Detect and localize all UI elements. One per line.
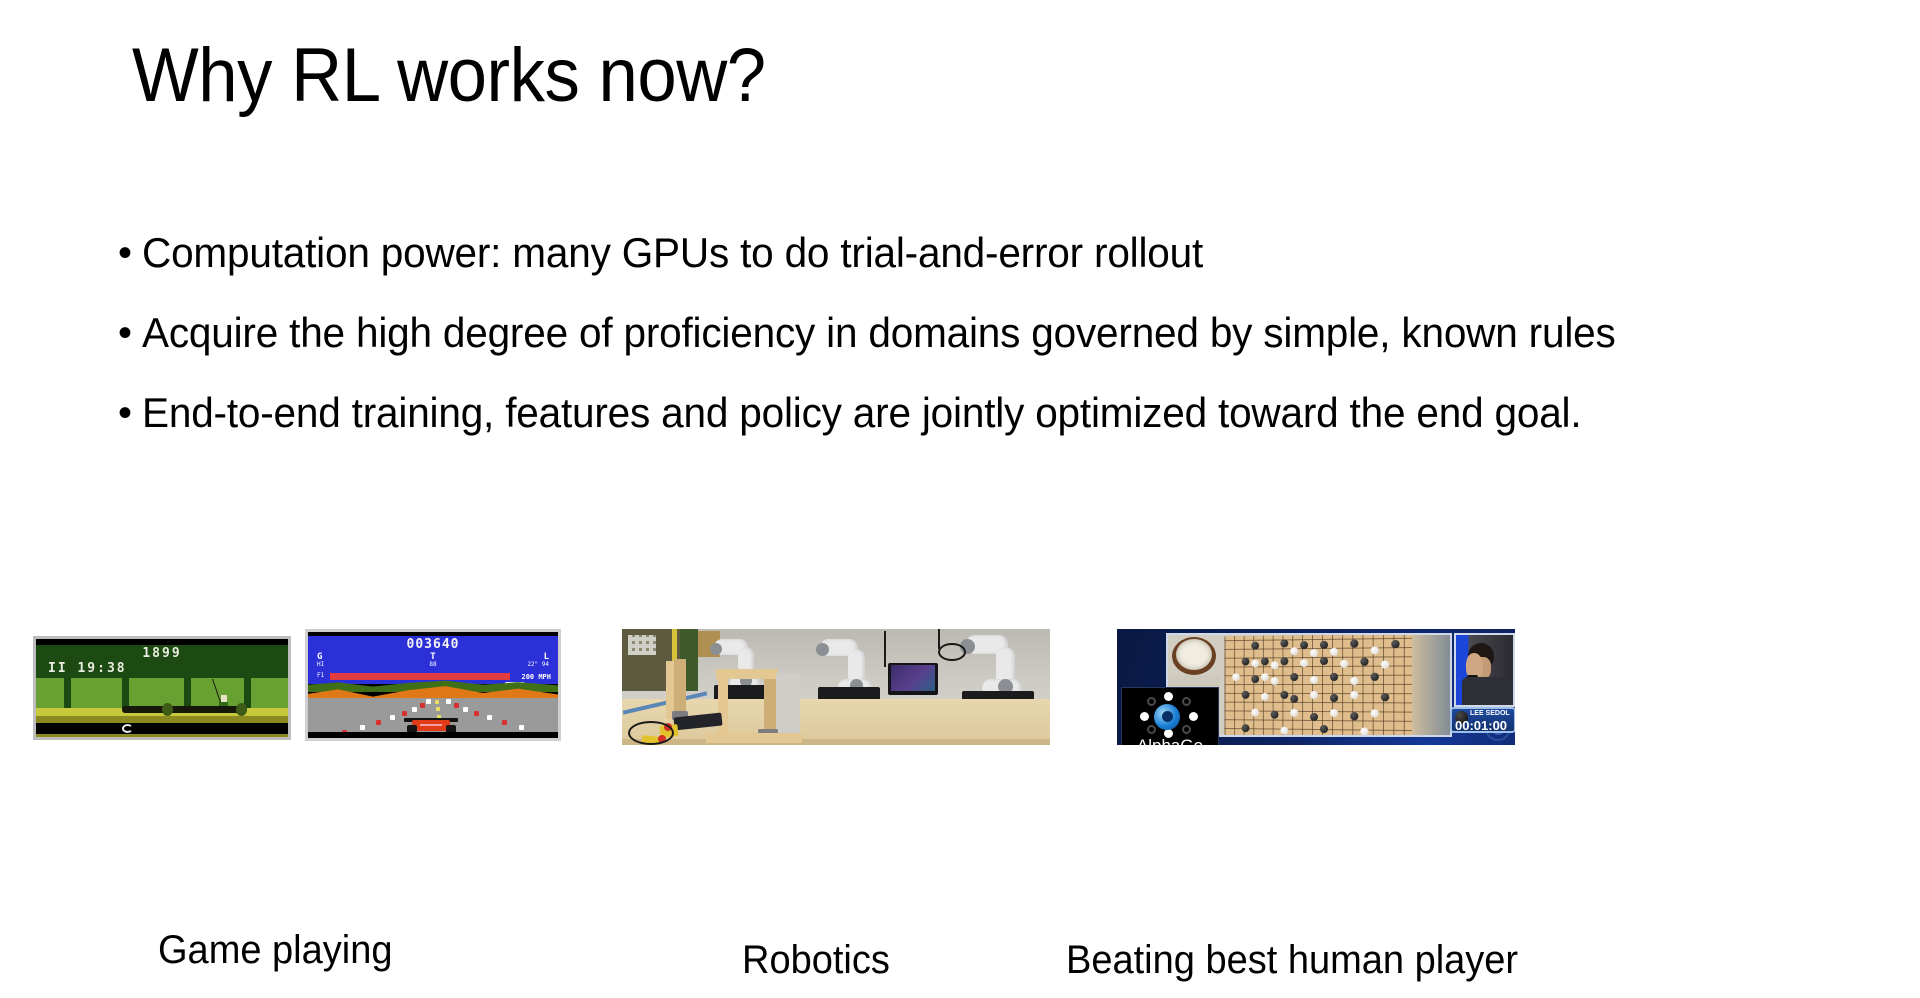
racing-curb-segment	[474, 711, 479, 716]
lee-sedol-time-remaining: 00:01:00	[1455, 718, 1507, 733]
racing-car-stripe	[420, 724, 442, 726]
pitfall-timer: II 19:38	[48, 661, 127, 676]
alphago-logo-card: AlphaGo Google DeepMind	[1121, 687, 1219, 745]
arm-joint	[816, 643, 829, 656]
racing-speed-readout: 200 MPH	[521, 673, 551, 681]
figure-alphago-match: ALPHAGO 00:10:29 AlphaGo Googl	[1117, 629, 1515, 745]
bench-cable-loop	[628, 721, 674, 745]
pitfall-lives-marker: II	[48, 661, 68, 676]
pitfall-underground	[36, 723, 288, 740]
presentation-slide: Why RL works now? • Computation power: m…	[0, 0, 1920, 998]
robot-cable	[938, 629, 940, 649]
caption-robotics: Robotics	[742, 938, 890, 983]
workbench-edge	[622, 739, 1050, 745]
racing-curb-segment	[390, 715, 395, 720]
robot-cable-loop	[938, 643, 966, 661]
racing-curb-segment	[454, 703, 459, 708]
pitfall-scorpion-icon	[122, 724, 133, 733]
caption-game-playing: Game playing	[158, 928, 392, 973]
racing-curb-segment	[426, 699, 431, 704]
pitfall-score: 1899	[36, 646, 288, 661]
pitfall-log-obstacle	[122, 706, 247, 713]
racing-curb-segment	[519, 725, 524, 730]
pitfall-log-knot	[236, 703, 247, 716]
pitfall-tree-trunk	[244, 678, 251, 708]
pitfall-screen: 1899 II 19:38	[36, 639, 288, 737]
pitfall-timer-value: 19:38	[77, 661, 126, 676]
figure-robotics-lab	[622, 629, 1050, 745]
racing-lane-dash	[435, 700, 439, 704]
robot-cable	[884, 631, 886, 667]
pitfall-tree-trunk	[64, 678, 71, 708]
go-white-stones-in-bowl	[1176, 639, 1212, 670]
alphago-logo-pupil	[1162, 711, 1173, 722]
racing-curb-segment	[360, 725, 365, 730]
racing-bottom-border	[308, 732, 558, 741]
lab-pegboard	[628, 635, 656, 655]
figure-strip: 1899 II 19:38	[0, 0, 1920, 998]
racing-curb-segment	[446, 699, 451, 704]
racing-fuel-bar	[330, 673, 510, 680]
wooden-frame-base	[706, 733, 802, 743]
wooden-frame-post	[718, 671, 728, 741]
racing-curb-segment	[502, 720, 507, 725]
racing-hud-right-value: 22" 94	[527, 661, 549, 668]
racing-hud-center-value: 88	[308, 661, 558, 668]
arm-joint	[710, 643, 722, 655]
pitfall-brand-label: ACTIVISION	[91, 737, 147, 740]
racing-fuel-label: F1	[317, 672, 324, 679]
wooden-frame-crossbar	[716, 669, 778, 679]
racing-lane-dash	[436, 707, 440, 711]
racing-curb-segment	[420, 703, 425, 708]
racing-curb-segment	[412, 707, 417, 712]
wooden-frame-post	[674, 659, 686, 719]
racing-curb-segment	[463, 707, 468, 712]
lab-monitor-screen	[891, 665, 935, 691]
pitfall-tree-trunk	[184, 678, 191, 708]
lee-sedol-clock: LEE SEDOL 00:01:00	[1450, 707, 1515, 733]
lee-sedol-video-feed	[1454, 633, 1515, 707]
frame-side-panel	[776, 673, 800, 735]
go-board-far-edge	[1412, 635, 1452, 737]
lee-sedol-suit	[1462, 677, 1514, 707]
racing-score: 003640	[308, 637, 558, 652]
pitfall-divider	[36, 734, 288, 737]
figure-atari-racing: 003640 G HI T 88 L 22" 94 F1 200 MPH	[305, 629, 561, 741]
pitfall-log-knot	[162, 703, 173, 716]
racing-curb-segment	[376, 720, 381, 725]
figure-atari-pitfall: 1899 II 19:38	[33, 636, 291, 740]
pitfall-tree-trunk	[122, 678, 129, 708]
alphago-logo-title: AlphaGo	[1122, 736, 1218, 745]
racing-curb-segment	[402, 711, 407, 716]
go-board	[1225, 634, 1415, 737]
pitfall-ground-shadow	[36, 716, 288, 723]
racing-curb-segment	[487, 715, 492, 720]
lee-sedol-player-name: LEE SEDOL	[1470, 710, 1510, 717]
caption-beating-best-human-player: Beating best human player	[1066, 938, 1518, 983]
